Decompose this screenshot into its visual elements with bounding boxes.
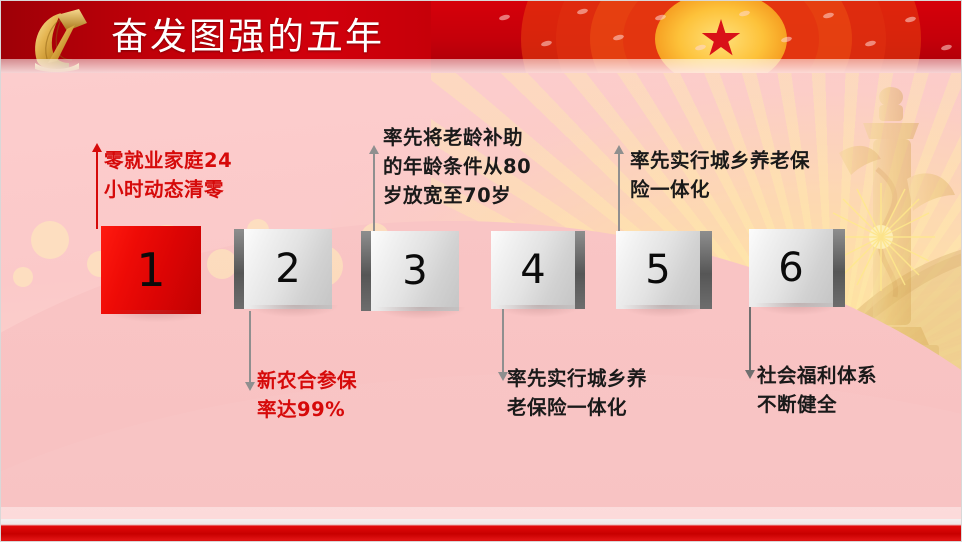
timeline-label-6: 社会福利体系 不断健全 [757,361,957,419]
timeline-arrow-6 [749,307,752,371]
timeline-number-3: 3 [371,231,459,311]
timeline-arrow-3 [373,153,376,231]
timeline-cube-2[interactable]: 2 [244,229,332,309]
bokeh-circle [31,221,69,259]
timeline-cube-3[interactable]: 3 [371,231,459,311]
timeline-number-1: 1 [101,226,201,314]
timeline-arrow-5 [618,153,621,231]
timeline-number-4: 4 [491,231,575,309]
presentation-slide: 奋发图强的五年 零就业家庭24 小时动态清零 1 2 新农合参保 率达99% 率… [0,0,962,542]
timeline-cube-1[interactable]: 1 [101,226,201,314]
timeline-label-3: 率先将老龄补助 的年龄条件从80 岁放宽至70岁 [383,123,603,210]
timeline-number-2: 2 [244,229,332,309]
bokeh-circle [13,267,33,287]
timeline-label-4: 率先实行城乡养 老保险一体化 [507,364,727,422]
timeline-cube-5[interactable]: 5 [616,231,700,309]
bottom-red-bar [1,519,962,542]
timeline-arrow-4 [502,309,505,373]
timeline-arrow-2 [249,311,252,383]
bokeh-circle [207,249,237,279]
timeline-cube-4[interactable]: 4 [491,231,575,309]
timeline-label-5: 率先实行城乡养老保 险一体化 [630,146,865,204]
bottom-shine-strip [1,507,962,519]
timeline-number-6: 6 [749,229,833,307]
timeline-arrow-1 [96,151,99,229]
timeline-number-5: 5 [616,231,700,309]
page-title: 奋发图强的五年 [111,6,384,60]
timeline-label-1: 零就业家庭24 小时动态清零 [104,146,284,204]
slide-header: 奋发图强的五年 [1,1,962,73]
timeline-label-2: 新农合参保 率达99% [257,366,417,424]
header-shine-strip [1,59,962,73]
timeline-cube-6[interactable]: 6 [749,229,833,307]
